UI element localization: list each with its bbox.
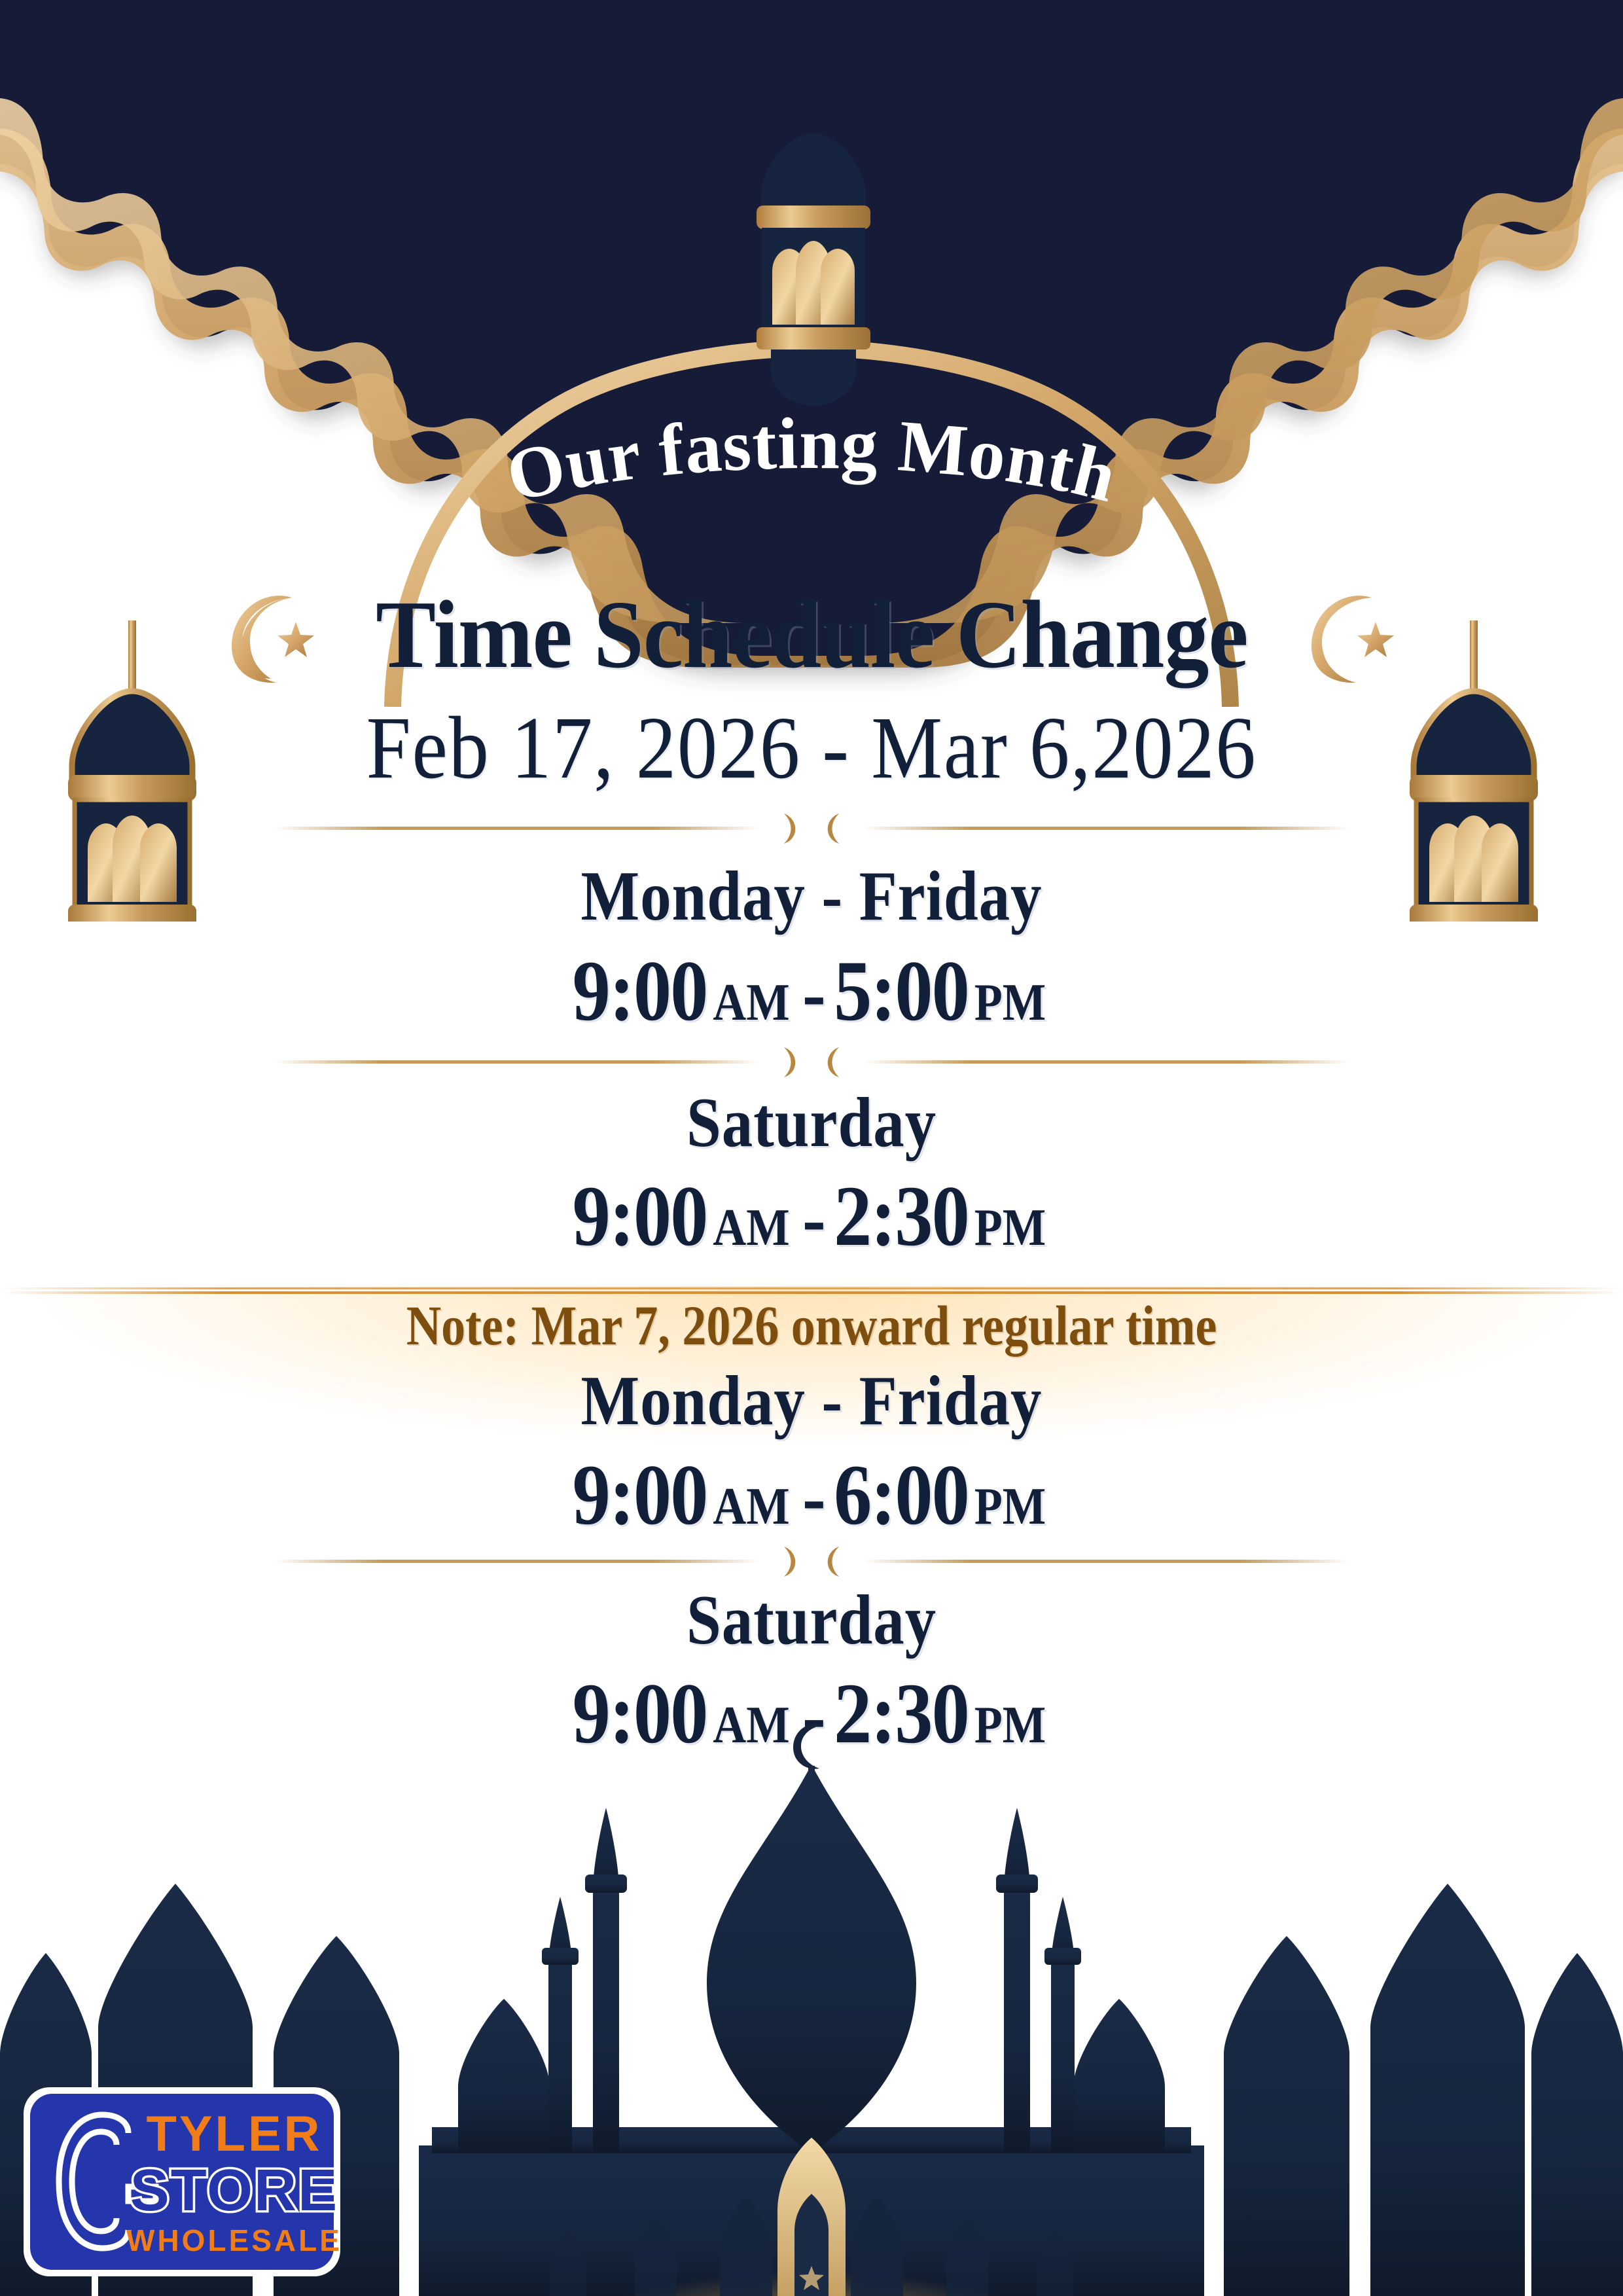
note-text: Note: Mar 7, 2026 onward regular time [114, 1297, 1510, 1354]
schedule-day-4: Saturday [98, 1585, 1525, 1656]
close-period-3: PM [974, 1478, 1046, 1535]
tyler-cstore-logo[interactable]: TYLER STORE WHOLESALE [18, 2082, 346, 2282]
ramadan-schedule-poster: Our fasting Month [0, 0, 1623, 2296]
open-time-2: 9:00 [573, 1168, 707, 1264]
open-period-1: AM [713, 974, 789, 1031]
page-title: Time Schedule Change [376, 586, 1247, 683]
crescent-moon-star-icon-right [1302, 586, 1400, 684]
close-period-2: PM [974, 1199, 1046, 1257]
logo-line-store: STORE [130, 2158, 338, 2223]
schedule-time-1: 9:00AM-5:00PM [98, 948, 1525, 1034]
open-period-3: AM [713, 1478, 789, 1535]
schedule-day-1: Monday - Friday [98, 861, 1525, 932]
crescent-divider-3 [275, 1541, 1348, 1581]
schedule-time-2: 9:00AM-2:30PM [98, 1173, 1525, 1259]
open-time-1: 9:00 [573, 942, 707, 1039]
time-dash-3: - [802, 1453, 826, 1541]
schedule-day-3: Monday - Friday [98, 1366, 1525, 1437]
schedule-time-3: 9:00AM-6:00PM [98, 1452, 1525, 1538]
crescent-divider-2 [275, 1042, 1348, 1081]
page-title-row: Time Schedule Change [0, 586, 1623, 684]
open-time-3: 9:00 [573, 1446, 707, 1543]
crescent-moon-star-icon-left [223, 586, 321, 684]
time-dash-2: - [802, 1174, 826, 1263]
time-dash-1: - [802, 949, 826, 1037]
crescent-divider-1 [275, 808, 1348, 848]
schedule-day-2: Saturday [98, 1088, 1525, 1158]
close-period-1: PM [974, 974, 1046, 1031]
logo-line-wholesale: WHOLESALE [126, 2223, 342, 2257]
close-time-1: 5:00 [834, 942, 969, 1039]
logo-line-tyler: TYLER [146, 2106, 322, 2162]
date-range: Feb 17, 2026 - Mar 6,2026 [81, 704, 1542, 793]
close-time-2: 2:30 [834, 1168, 969, 1264]
close-time-3: 6:00 [834, 1446, 969, 1543]
open-period-2: AM [713, 1199, 789, 1257]
